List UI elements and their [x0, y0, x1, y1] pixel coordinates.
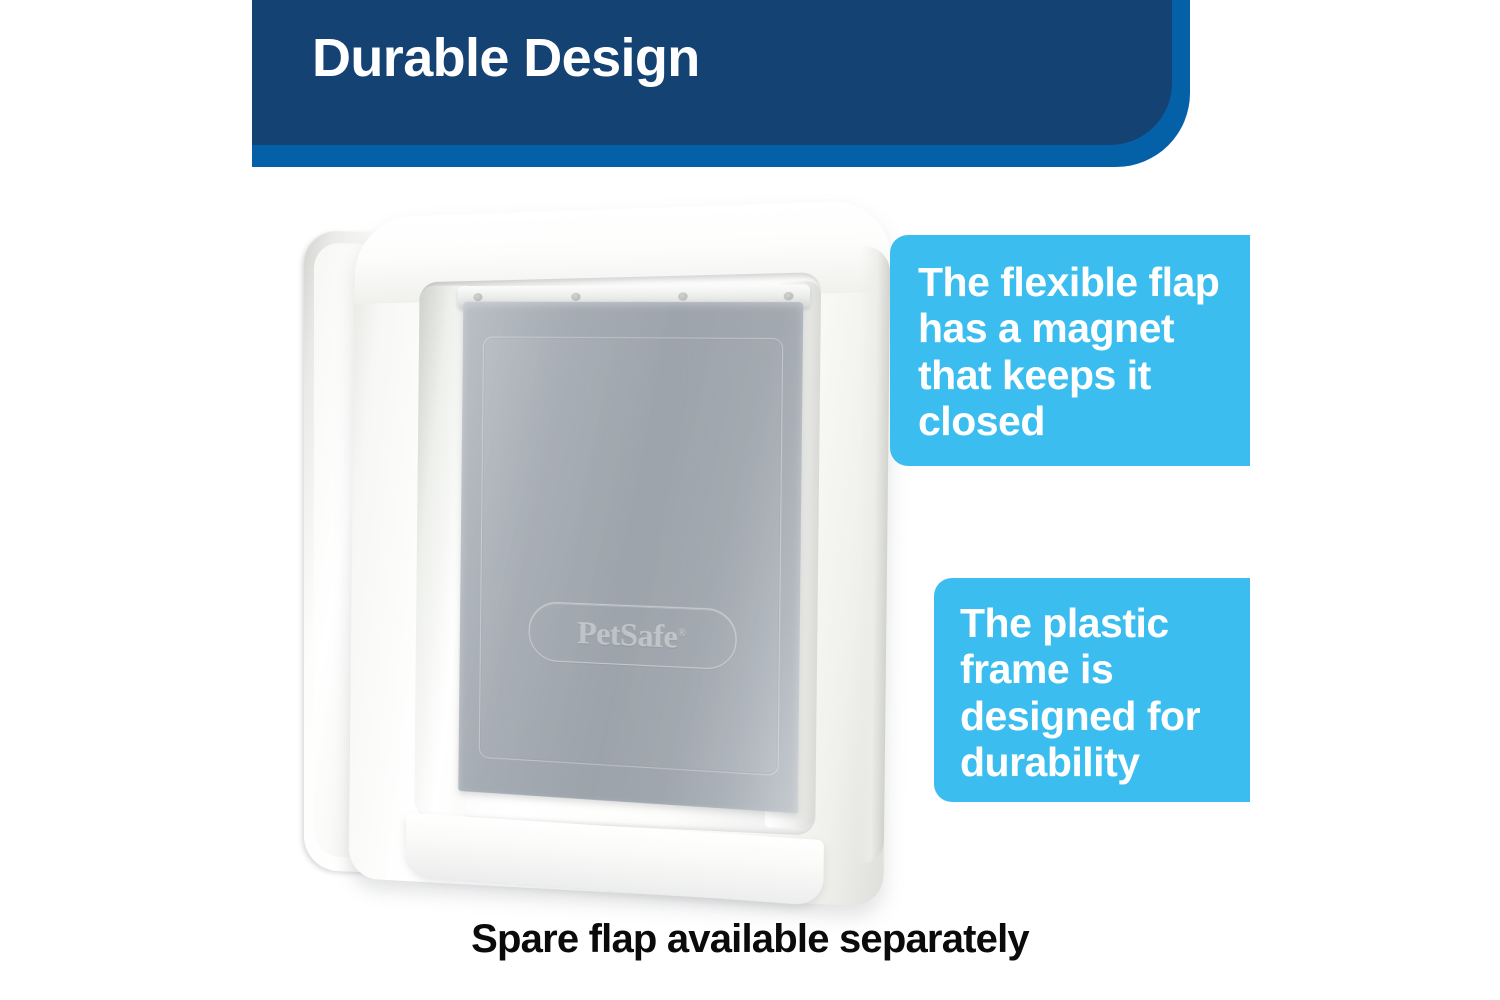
- registered-trademark-icon: ®: [677, 626, 686, 639]
- callout-frame-durability: The plastic frame is designed for durabi…: [934, 578, 1250, 802]
- product-pet-door-image: PetSafe®: [290, 210, 900, 890]
- petsafe-wordmark: PetSafe®: [577, 614, 686, 656]
- callout-flap-magnet-text: The flexible flap has a magnet that keep…: [918, 259, 1230, 444]
- petsafe-logo-badge: PetSafe®: [528, 601, 736, 670]
- front-frame-right-highlight: [855, 245, 891, 865]
- page-title: Durable Design: [312, 31, 700, 85]
- bottom-caption: Spare flap available separately: [0, 917, 1500, 962]
- callout-frame-durability-text: The plastic frame is designed for durabi…: [960, 600, 1236, 785]
- hinge-rivet: [571, 293, 580, 301]
- header-banner: Durable Design: [252, 0, 1190, 167]
- callout-flap-magnet: The flexible flap has a magnet that keep…: [890, 235, 1250, 466]
- petsafe-wordmark-text: PetSafe: [577, 614, 678, 655]
- hinge-rivet: [784, 292, 794, 301]
- hinge-rivet: [678, 292, 688, 300]
- flap-embossed-panel: [479, 336, 784, 776]
- front-frame: PetSafe®: [349, 200, 891, 908]
- flexible-flap: PetSafe®: [458, 302, 803, 814]
- hinge-rivet: [473, 293, 482, 301]
